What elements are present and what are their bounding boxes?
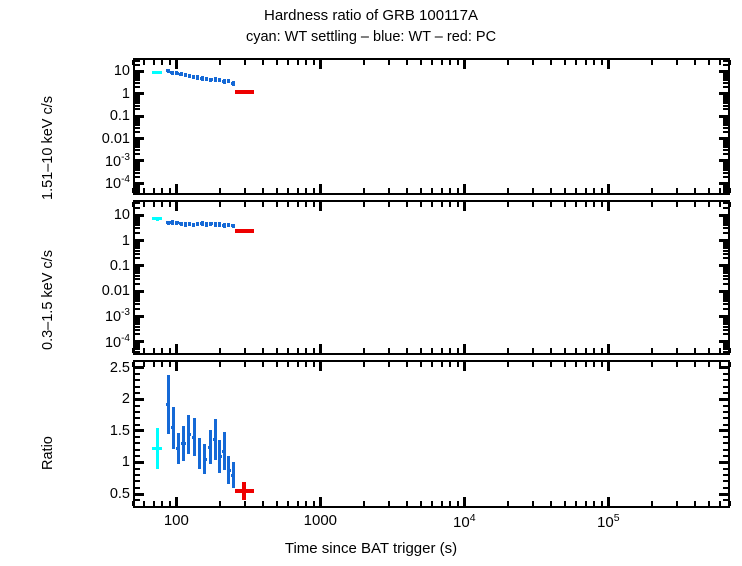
- x-tick: [550, 202, 552, 207]
- x-tick: [708, 362, 710, 367]
- y-tick-minor: [723, 278, 728, 280]
- error-bar-horizontal: [203, 458, 207, 461]
- x-tick: [457, 188, 459, 193]
- plot-canvas: Hardness ratio of GRB 100117A cyan: WT s…: [0, 0, 742, 566]
- x-tick: [575, 188, 577, 193]
- x-tick: [449, 501, 451, 506]
- error-bar-horizontal: [170, 221, 174, 224]
- error-bar-horizontal: [196, 76, 199, 79]
- x-tick: [262, 202, 264, 207]
- x-tick: [676, 348, 678, 353]
- x-tick: [262, 60, 264, 65]
- x-tick: [593, 501, 595, 506]
- error-bar-horizontal: [152, 217, 162, 220]
- y-tick-minor: [135, 71, 140, 73]
- y-tick-minor: [135, 207, 140, 209]
- x-tick: [287, 362, 289, 367]
- y-tick-minor: [723, 411, 728, 413]
- x-tick: [463, 497, 466, 506]
- x-tick: [463, 184, 466, 193]
- y-tick-label: 10-3: [105, 308, 130, 326]
- x-tick: [313, 362, 315, 367]
- y-tick-minor: [723, 183, 728, 185]
- y-tick: [135, 366, 144, 369]
- y-tick-minor: [723, 379, 728, 381]
- x-tick: [457, 348, 459, 353]
- x-tick: [441, 188, 443, 193]
- y-tick-minor: [723, 323, 728, 325]
- x-tick: [287, 60, 289, 65]
- y-tick-minor: [135, 266, 140, 268]
- x-tick: [431, 188, 433, 193]
- error-bar-horizontal: [196, 223, 199, 226]
- x-tick: [297, 501, 299, 506]
- y-tick-minor: [723, 317, 728, 319]
- y-tick-label: 0.01: [102, 283, 130, 299]
- x-tick: [132, 501, 134, 506]
- x-tick: [431, 60, 433, 65]
- y-tick-minor: [723, 222, 728, 224]
- x-tick: [363, 501, 365, 506]
- y-tick-minor: [135, 257, 140, 259]
- y-tick-label: 10-4: [105, 333, 130, 351]
- x-tick: [507, 501, 509, 506]
- y-tick-minor: [135, 176, 140, 178]
- x-tick: [297, 188, 299, 193]
- y-tick-minor: [135, 333, 140, 335]
- y-tick-minor: [723, 94, 728, 96]
- error-bar-horizontal: [192, 75, 195, 78]
- x-tick: [175, 362, 178, 371]
- x-tick: [388, 60, 390, 65]
- y-tick-minor: [723, 232, 728, 234]
- y-tick-minor: [723, 436, 728, 438]
- x-tick: [305, 188, 307, 193]
- x-tick: [153, 348, 155, 353]
- y-tick-minor: [723, 102, 728, 104]
- y-tick-minor: [723, 283, 728, 285]
- y-tick-minor: [723, 108, 728, 110]
- y-tick-label: 2.5: [110, 360, 130, 376]
- x-tick: [143, 60, 145, 65]
- y-tick-minor: [135, 60, 140, 62]
- error-bar-horizontal: [192, 223, 195, 226]
- y-tick: [719, 398, 728, 401]
- error-bar-horizontal: [205, 223, 208, 226]
- error-bar-horizontal: [235, 90, 253, 94]
- x-tick: [388, 188, 390, 193]
- x-tick: [169, 348, 171, 353]
- y-tick-label: 0.01: [102, 131, 130, 147]
- error-bar-horizontal: [213, 438, 216, 441]
- x-tick: [161, 188, 163, 193]
- x-tick: [420, 202, 422, 207]
- x-tick: [153, 501, 155, 506]
- x-tick: [287, 188, 289, 193]
- x-tick: [420, 188, 422, 193]
- x-tick: [161, 60, 163, 65]
- x-tick: [694, 362, 696, 367]
- y-tick-minor: [135, 169, 140, 171]
- y-tick-minor: [135, 329, 140, 331]
- x-tick: [729, 188, 731, 193]
- x-tick: [219, 501, 221, 506]
- x-tick: [305, 362, 307, 367]
- x-tick: [305, 202, 307, 207]
- x-tick: [297, 348, 299, 353]
- y-tick-label: 10: [114, 207, 130, 223]
- error-bar-horizontal: [227, 224, 230, 227]
- y-tick-minor: [135, 94, 140, 96]
- x-tick: [575, 60, 577, 65]
- y-tick-minor: [135, 82, 140, 84]
- y-tick-minor: [135, 172, 140, 174]
- error-bar-horizontal: [235, 229, 253, 233]
- error-bar-horizontal: [214, 78, 217, 81]
- x-tick: [564, 188, 566, 193]
- y-tick-label: 0.1: [110, 258, 130, 274]
- x-tick: [463, 202, 466, 211]
- x-tick-label: 104: [453, 512, 476, 531]
- x-tick: [708, 60, 710, 65]
- error-bar-horizontal: [152, 71, 162, 74]
- y-tick-minor: [723, 405, 728, 407]
- error-bar-horizontal: [200, 222, 203, 225]
- x-tick: [607, 202, 610, 211]
- error-bar-horizontal: [175, 221, 179, 224]
- x-tick: [694, 202, 696, 207]
- x-tick: [431, 202, 433, 207]
- x-tick: [297, 60, 299, 65]
- x-tick: [593, 60, 595, 65]
- y-tick-minor: [135, 317, 140, 319]
- x-tick: [532, 348, 534, 353]
- x-tick: [550, 348, 552, 353]
- error-bar-horizontal: [205, 78, 208, 81]
- y-tick-minor: [723, 139, 728, 141]
- y-tick-minor: [723, 144, 728, 146]
- y-tick-minor: [135, 102, 140, 104]
- y-tick-minor: [723, 172, 728, 174]
- y-tick-minor: [135, 342, 140, 344]
- y-tick-minor: [723, 167, 728, 169]
- x-tick: [550, 501, 552, 506]
- x-tick: [719, 348, 721, 353]
- error-bar-horizontal: [235, 489, 254, 493]
- y-tick-minor: [723, 161, 728, 163]
- x-tick: [507, 348, 509, 353]
- y-tick-minor: [135, 351, 140, 353]
- x-tick: [297, 362, 299, 367]
- x-tick: [287, 501, 289, 506]
- x-tick: [132, 362, 134, 367]
- y-tick-minor: [723, 153, 728, 155]
- x-tick: [319, 202, 322, 211]
- x-tick: [262, 188, 264, 193]
- x-tick: [363, 188, 365, 193]
- y-tick-minor: [723, 298, 728, 300]
- y-tick-minor: [723, 468, 728, 470]
- x-tick: [175, 202, 178, 211]
- x-tick: [449, 202, 451, 207]
- y-tick: [135, 398, 144, 401]
- x-tick: [169, 60, 171, 65]
- x-tick: [169, 501, 171, 506]
- x-tick: [363, 362, 365, 367]
- y-tick-minor: [135, 308, 140, 310]
- error-bar-horizontal: [188, 74, 191, 77]
- x-tick: [153, 188, 155, 193]
- error-bar-horizontal: [166, 403, 170, 406]
- error-bar-horizontal: [218, 78, 221, 81]
- y-tick-minor: [723, 82, 728, 84]
- y-tick-minor: [135, 449, 140, 451]
- y-tick-minor: [135, 108, 140, 110]
- x-tick: [676, 501, 678, 506]
- y-tick-minor: [723, 60, 728, 62]
- y-tick-minor: [135, 417, 140, 419]
- x-tick: [388, 362, 390, 367]
- y-tick-minor: [723, 64, 728, 66]
- x-tick: [388, 202, 390, 207]
- x-tick: [449, 60, 451, 65]
- x-tick: [651, 362, 653, 367]
- x-tick: [305, 60, 307, 65]
- x-tick: [143, 501, 145, 506]
- y-tick-minor: [135, 146, 140, 148]
- x-tick: [607, 184, 610, 193]
- y-tick-label: 0.1: [110, 108, 130, 124]
- x-tick: [363, 60, 365, 65]
- x-tick: [532, 188, 534, 193]
- y-tick-label: 1.5: [110, 423, 130, 439]
- x-tick: [593, 188, 595, 193]
- y-tick-minor: [723, 250, 728, 252]
- y-tick-minor: [723, 417, 728, 419]
- x-tick: [219, 202, 221, 207]
- error-bar-horizontal: [184, 223, 187, 226]
- y-tick: [719, 366, 728, 369]
- error-bar-horizontal: [222, 80, 225, 83]
- x-tick: [143, 202, 145, 207]
- error-bar-horizontal: [175, 72, 179, 75]
- y-tick-minor: [135, 79, 140, 81]
- y-tick: [719, 493, 728, 496]
- x-tick: [564, 202, 566, 207]
- x-tick: [585, 362, 587, 367]
- y-tick-minor: [723, 202, 728, 204]
- y-tick-minor: [135, 272, 140, 274]
- error-bar-horizontal: [222, 224, 225, 227]
- x-tick: [276, 348, 278, 353]
- x-tick: [276, 188, 278, 193]
- y-tick-label: 1: [122, 454, 130, 470]
- y-tick-minor: [135, 253, 140, 255]
- x-tick: [708, 348, 710, 353]
- x-tick: [694, 188, 696, 193]
- y-tick-minor: [135, 149, 140, 151]
- y-tick-minor: [723, 79, 728, 81]
- y-tick-minor: [723, 146, 728, 148]
- x-tick: [406, 348, 408, 353]
- x-tick: [219, 60, 221, 65]
- x-tick-label: 105: [597, 512, 620, 531]
- x-tick: [262, 348, 264, 353]
- y-tick-minor: [135, 122, 140, 124]
- x-tick: [406, 202, 408, 207]
- x-tick: [153, 60, 155, 65]
- x-tick: [169, 202, 171, 207]
- x-tick: [729, 202, 731, 207]
- y-tick-minor: [135, 455, 140, 457]
- x-tick: [607, 60, 610, 69]
- y-tick-label: 10-4: [105, 174, 130, 192]
- y-tick-minor: [135, 245, 140, 247]
- error-bar-horizontal: [176, 447, 180, 450]
- x-tick: [550, 188, 552, 193]
- y-tick-minor: [723, 131, 728, 133]
- x-tick: [457, 60, 459, 65]
- error-bar-horizontal: [152, 447, 162, 450]
- x-tick: [441, 60, 443, 65]
- x-tick: [564, 348, 566, 353]
- y-tick-minor: [723, 71, 728, 73]
- x-tick: [676, 188, 678, 193]
- x-tick: [708, 202, 710, 207]
- y-tick-minor: [723, 116, 728, 118]
- y-tick-minor: [135, 499, 140, 501]
- error-bar-horizontal: [200, 77, 203, 80]
- x-tick: [132, 188, 134, 193]
- y-tick-minor: [723, 191, 728, 193]
- y-tick-minor: [723, 373, 728, 375]
- x-axis-label: Time since BAT trigger (s): [0, 540, 742, 557]
- x-tick: [607, 362, 610, 371]
- x-tick: [219, 362, 221, 367]
- error-bar-horizontal: [198, 452, 201, 455]
- y-tick-minor: [135, 291, 140, 293]
- y-tick-minor: [723, 351, 728, 353]
- x-tick-label: 100: [164, 512, 189, 529]
- x-tick: [313, 202, 315, 207]
- x-tick: [729, 60, 731, 65]
- y-tick-minor: [135, 487, 140, 489]
- x-tick: [449, 362, 451, 367]
- y-tick-minor: [723, 207, 728, 209]
- x-tick: [244, 188, 246, 193]
- y-tick-label: 10: [114, 63, 130, 79]
- x-tick: [313, 60, 315, 65]
- y-tick-minor: [135, 474, 140, 476]
- y-tick-minor: [723, 220, 728, 222]
- x-tick: [143, 188, 145, 193]
- x-tick: [585, 202, 587, 207]
- y-tick-minor: [723, 176, 728, 178]
- x-tick: [169, 188, 171, 193]
- y-tick-minor: [135, 480, 140, 482]
- error-bar-horizontal: [210, 78, 213, 81]
- y-tick-minor: [723, 333, 728, 335]
- x-tick: [287, 202, 289, 207]
- y-tick-minor: [135, 202, 140, 204]
- x-tick: [729, 501, 731, 506]
- y-tick-minor: [135, 124, 140, 126]
- y-tick-minor: [723, 227, 728, 229]
- y-tick-minor: [135, 275, 140, 277]
- error-bar-horizontal: [222, 450, 225, 453]
- y-tick-minor: [723, 329, 728, 331]
- x-tick: [406, 362, 408, 367]
- y-tick-minor: [723, 296, 728, 298]
- y-tick-minor: [135, 191, 140, 193]
- y-tick-minor: [135, 153, 140, 155]
- y-tick-minor: [723, 100, 728, 102]
- error-bar-horizontal: [231, 82, 235, 85]
- x-tick: [575, 501, 577, 506]
- x-tick: [601, 188, 603, 193]
- x-tick: [169, 362, 171, 367]
- x-tick: [441, 348, 443, 353]
- y-tick-minor: [723, 241, 728, 243]
- error-bar-horizontal: [218, 223, 221, 226]
- x-tick: [708, 188, 710, 193]
- x-tick: [305, 348, 307, 353]
- x-tick: [507, 60, 509, 65]
- y-tick-minor: [723, 169, 728, 171]
- x-tick: [420, 501, 422, 506]
- y-tick-minor: [723, 189, 728, 191]
- x-tick: [161, 348, 163, 353]
- x-tick: [363, 348, 365, 353]
- y-tick-minor: [723, 308, 728, 310]
- error-bar-horizontal: [208, 446, 212, 449]
- x-tick: [651, 60, 653, 65]
- x-tick: [676, 362, 678, 367]
- x-tick: [719, 202, 721, 207]
- x-tick: [441, 362, 443, 367]
- y-tick-label: 1: [122, 233, 130, 249]
- x-tick: [244, 348, 246, 353]
- x-tick: [601, 348, 603, 353]
- x-tick: [585, 60, 587, 65]
- y-tick-minor: [135, 131, 140, 133]
- x-tick: [507, 188, 509, 193]
- x-tick: [564, 362, 566, 367]
- x-tick: [507, 362, 509, 367]
- x-tick: [276, 202, 278, 207]
- y-tick: [719, 429, 728, 432]
- y-tick-minor: [135, 373, 140, 375]
- x-tick: [319, 362, 322, 371]
- error-bar-horizontal: [231, 474, 235, 477]
- x-tick: [601, 60, 603, 65]
- x-tick: [585, 188, 587, 193]
- x-tick: [463, 60, 466, 69]
- x-tick: [406, 60, 408, 65]
- y-tick-minor: [135, 167, 140, 169]
- x-tick: [601, 362, 603, 367]
- y-tick-minor: [723, 253, 728, 255]
- y-tick-minor: [135, 232, 140, 234]
- y-tick-minor: [135, 392, 140, 394]
- y-tick-minor: [135, 64, 140, 66]
- y-tick-minor: [723, 224, 728, 226]
- x-tick: [276, 60, 278, 65]
- x-tick: [607, 497, 610, 506]
- x-tick: [463, 344, 466, 353]
- x-tick: [219, 348, 221, 353]
- x-tick: [441, 501, 443, 506]
